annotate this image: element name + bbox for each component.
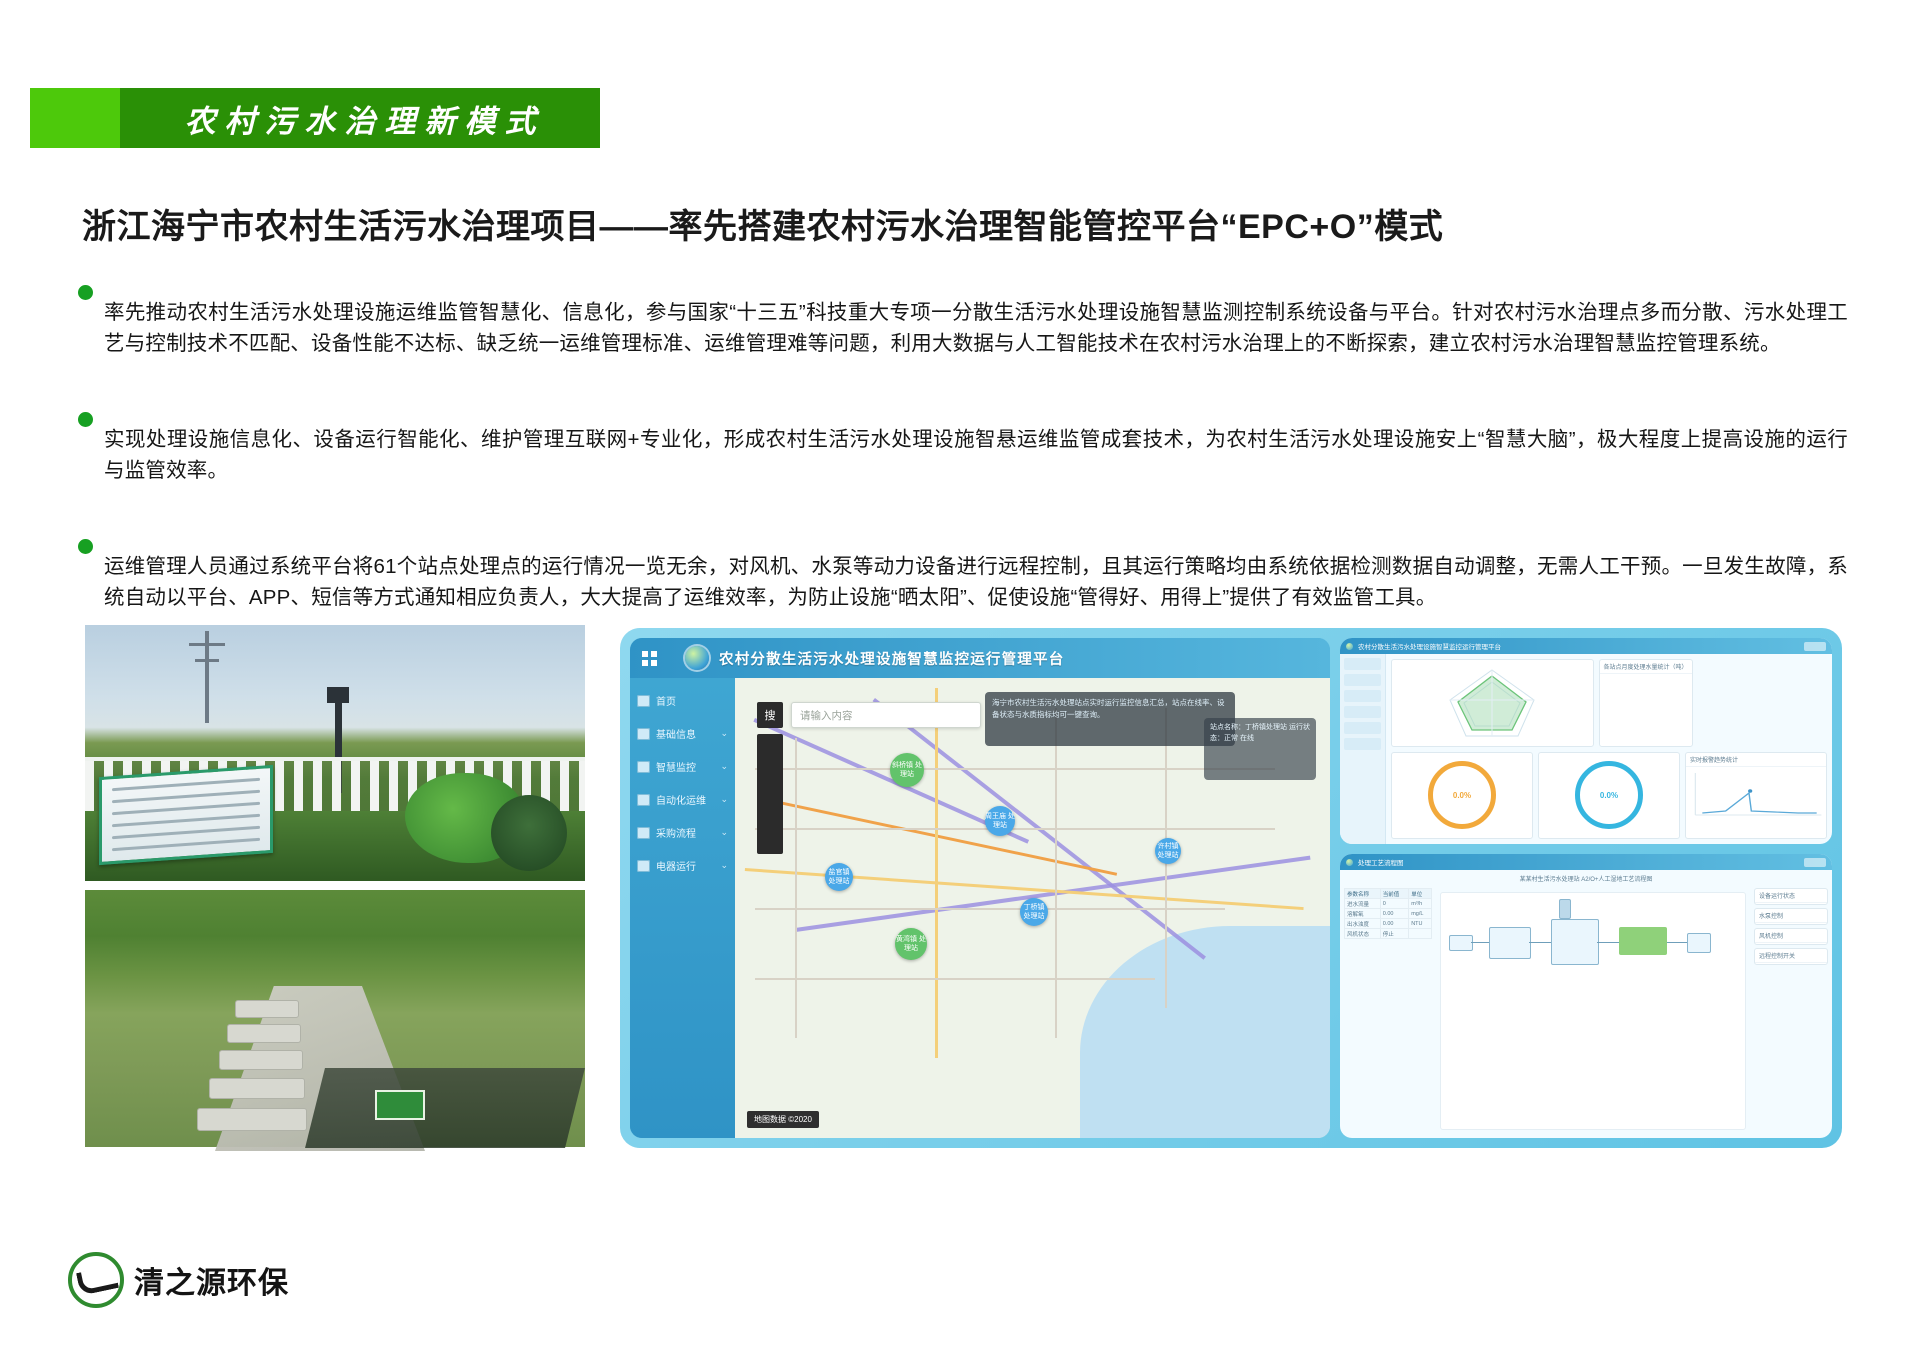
- bullet-list: 率先推动农村生活污水处理设施运维监管智慧化、信息化，参与国家“十三五”科技重大专…: [78, 276, 1848, 657]
- photo-village-fence: [85, 625, 585, 881]
- pylon-shape: [189, 643, 225, 646]
- chevron-down-icon: ⌄: [720, 794, 728, 805]
- map-poi-marker[interactable]: 盐官镇 处理站: [825, 863, 853, 891]
- monitor-icon: [637, 761, 650, 773]
- sidebar-item-label: 电器运行: [656, 858, 714, 873]
- analytics-sidebar[interactable]: [1340, 654, 1386, 844]
- page-title: 浙江海宁市农村生活污水治理项目——率先搭建农村污水治理智能管控平台“EPC+O”…: [82, 199, 1832, 248]
- flow-diagram-title: 某某村生活污水处理站 A2/O+人工湿地工艺流程图: [1344, 874, 1828, 883]
- step-shape: [197, 1108, 307, 1131]
- line-chart-icon: [1686, 767, 1826, 821]
- dashboard-screenshot: 农村分散生活污水处理设施智慧监控运行管理平台 首页 基础信息 ⌄ 智慧监控 ⌄: [620, 628, 1842, 1148]
- bullet-paragraph: 率先推动农村生活污水处理设施运维监管智慧化、信息化，参与国家“十三五”科技重大专…: [104, 297, 1848, 359]
- company-name: 清之源环保: [134, 1258, 289, 1302]
- gauge-value: 0.0%: [1428, 761, 1496, 829]
- window-controls-icon[interactable]: [1804, 858, 1826, 867]
- sidebar-item-procurement[interactable]: 采购流程 ⌄: [630, 816, 735, 849]
- control-card-label: 远程控制开关: [1755, 949, 1827, 963]
- field-sign: [375, 1090, 425, 1120]
- table-cell: mg/L: [1409, 909, 1432, 919]
- platform-window: 农村分散生活污水处理设施智慧监控运行管理平台 首页 基础信息 ⌄ 智慧监控 ⌄: [630, 638, 1330, 1138]
- pond-shape: [305, 1068, 585, 1148]
- table-cell: m³/h: [1409, 899, 1432, 909]
- map-site-popup: 站点名称：丁桥镇处理站 运行状态：正常 在线: [1204, 718, 1316, 780]
- road-shape: [795, 738, 797, 1038]
- bar-chart: [1600, 674, 1692, 689]
- process-panel-header: 处理工艺流程图: [1340, 854, 1832, 870]
- map-search-input[interactable]: 请输入内容: [791, 702, 981, 728]
- platform-header: 农村分散生活污水处理设施智慧监控运行管理平台: [630, 638, 1330, 678]
- window-controls-icon[interactable]: [1804, 642, 1826, 651]
- foliage-shape: [491, 795, 567, 871]
- step-shape: [219, 1050, 303, 1070]
- table-cell: 0.00: [1380, 909, 1408, 919]
- bullet-dot-icon: [78, 285, 93, 300]
- map-poi-marker[interactable]: 丁桥镇 处理站: [1020, 898, 1048, 926]
- flow-node-aeration: [1551, 919, 1599, 965]
- table-cell: 溶解氧: [1345, 909, 1381, 919]
- alarm-trend-title: 实时报警趋势统计: [1686, 753, 1826, 767]
- globe-logo-icon: [1346, 859, 1353, 866]
- table-cell: 0: [1380, 899, 1408, 909]
- bar-chart-title: 各站点月度处理水量统计（吨）: [1600, 660, 1692, 674]
- control-card-list: 设备运行状态 水泵控制 风机控制 远程控制开关: [1754, 888, 1828, 1134]
- flow-node-wetland: [1619, 927, 1667, 955]
- banner-title-block: 农村污水治理新模式: [120, 88, 600, 148]
- info-icon: [637, 728, 650, 740]
- road-shape: [755, 768, 1275, 770]
- bar-chart-card: 各站点月度处理水量统计（吨）: [1599, 659, 1693, 747]
- footer-logo: 清之源环保: [68, 1252, 289, 1308]
- ops-icon: [637, 794, 650, 806]
- flow-node-tank1: [1489, 927, 1531, 959]
- list-item: 率先推动农村生活污水处理设施运维监管智慧化、信息化，参与国家“十三五”科技重大专…: [78, 276, 1848, 379]
- platform-title: 农村分散生活污水处理设施智慧监控运行管理平台: [719, 648, 1064, 669]
- flow-pipe: [1529, 942, 1551, 943]
- photo-wetland-path: [85, 890, 585, 1147]
- sidebar-item-label: 基础信息: [656, 726, 714, 741]
- globe-logo-icon: [685, 646, 709, 670]
- table-row: 风机状态 停止: [1345, 929, 1432, 939]
- cart-icon: [637, 827, 650, 839]
- pylon-shape: [195, 659, 219, 662]
- flow-blower: [1559, 899, 1571, 919]
- alarm-trend-card: 实时报警趋势统计: [1685, 752, 1827, 840]
- control-card[interactable]: 风机控制: [1754, 928, 1828, 945]
- parameter-table-wrap: 参数名称 当前值 单位 进水流量 0 m³/h: [1344, 888, 1432, 1134]
- sidebar-item-auto-ops[interactable]: 自动化运维 ⌄: [630, 783, 735, 816]
- information-board: [99, 765, 273, 865]
- power-icon: [637, 860, 650, 872]
- control-card[interactable]: 远程控制开关: [1754, 948, 1828, 965]
- step-shape: [235, 1000, 299, 1018]
- table-row: 出水浊度 0.00 NTU: [1345, 919, 1432, 929]
- flow-pipe: [1597, 942, 1619, 943]
- sidebar-item-label: 首页: [656, 693, 722, 708]
- chevron-down-icon: ⌄: [720, 860, 728, 871]
- sidebar-item-label: 自动化运维: [656, 792, 714, 807]
- control-card[interactable]: 水泵控制: [1754, 908, 1828, 925]
- table-cell: 出水浊度: [1345, 919, 1381, 929]
- step-shape: [227, 1024, 301, 1043]
- control-card-label: 风机控制: [1755, 929, 1827, 943]
- map-poi-marker[interactable]: 黄湾镇 处理站: [895, 928, 927, 960]
- chevron-down-icon: ⌄: [720, 728, 728, 739]
- grid-menu-icon[interactable]: [642, 651, 657, 666]
- parameter-table: 参数名称 当前值 单位 进水流量 0 m³/h: [1344, 888, 1432, 939]
- gauge-online-rate: 0.0%: [1391, 752, 1533, 840]
- sidebar-item-label: 智慧监控: [656, 759, 714, 774]
- process-panel-title: 处理工艺流程图: [1358, 857, 1404, 867]
- radar-chart-card: [1391, 659, 1594, 747]
- bullet-paragraph: 运维管理人员通过系统平台将61个站点处理点的运行情况一览无余，对风机、水泵等动力…: [104, 551, 1848, 613]
- list-item: 实现处理设施信息化、设备运行智能化、维护管理互联网+专业化，形成农村生活污水处理…: [78, 403, 1848, 506]
- table-header-cell: 当前值: [1380, 889, 1408, 899]
- map-info-popup: 海宁市农村生活污水处理站点实时运行监控信息汇总，站点在线率、设备状态与水质指标均…: [985, 692, 1235, 746]
- analytics-panel: 农村分散生活污水处理设施智慧监控运行管理平台: [1340, 638, 1832, 844]
- map-canvas[interactable]: 搜 请输入内容 海宁市农村生活污水处理站点实时运行监控信息汇总，站点在线率、设备…: [735, 678, 1330, 1138]
- home-icon: [637, 695, 650, 707]
- bullet-paragraph: 实现处理设施信息化、设备运行智能化、维护管理互联网+专业化，形成农村生活污水处理…: [104, 424, 1848, 486]
- process-flow-diagram: [1440, 892, 1746, 1130]
- road-shape: [935, 688, 938, 1058]
- list-item: 运维管理人员通过系统平台将61个站点处理点的运行情况一览无余，对风机、水泵等动力…: [78, 530, 1848, 633]
- dashboard-right-column: 农村分散生活污水处理设施智慧监控运行管理平台: [1340, 638, 1832, 1138]
- water-body-shape: [1080, 926, 1330, 1138]
- control-card-label: 水泵控制: [1755, 909, 1827, 923]
- control-card[interactable]: 设备运行状态: [1754, 888, 1828, 905]
- section-banner: 农村污水治理新模式: [30, 88, 600, 148]
- flow-node-outlet: [1687, 933, 1711, 953]
- sidebar-item-smart-monitor[interactable]: 智慧监控 ⌄: [630, 750, 735, 783]
- process-panel: 处理工艺流程图 某某村生活污水处理站 A2/O+人工湿地工艺流程图 参数名称 当…: [1340, 854, 1832, 1138]
- analytics-panel-header: 农村分散生活污水处理设施智慧监控运行管理平台: [1340, 638, 1832, 654]
- company-logo-icon: [68, 1252, 124, 1308]
- map-poi-marker[interactable]: 许村镇 处理站: [1155, 838, 1181, 864]
- sidebar-item-power-run[interactable]: 电器运行 ⌄: [630, 849, 735, 882]
- table-row: 进水流量 0 m³/h: [1345, 899, 1432, 909]
- banner-accent-block: [30, 88, 120, 148]
- table-header-cell: 单位: [1409, 889, 1432, 899]
- road-shape: [1055, 708, 1057, 1038]
- analytics-panel-title: 农村分散生活污水处理设施智慧监控运行管理平台: [1358, 641, 1501, 651]
- table-cell: 0.00: [1380, 919, 1408, 929]
- radar-chart-icon: [1444, 664, 1540, 742]
- road-shape: [755, 828, 1275, 830]
- map-zoom-slider[interactable]: [757, 734, 783, 854]
- platform-sidebar: 首页 基础信息 ⌄ 智慧监控 ⌄ 自动化运维 ⌄: [630, 678, 735, 1138]
- map-attribution: 地图数据 ©2020: [747, 1111, 819, 1128]
- table-cell: NTU: [1409, 919, 1432, 929]
- table-cell: [1409, 929, 1432, 939]
- road-shape: [795, 856, 1310, 932]
- table-row: 溶解氧 0.00 mg/L: [1345, 909, 1432, 919]
- table-cell: 风机状态: [1345, 929, 1381, 939]
- table-cell: 进水流量: [1345, 899, 1381, 909]
- road-shape: [755, 978, 1155, 980]
- bullet-dot-icon: [78, 412, 93, 427]
- chevron-down-icon: ⌄: [720, 761, 728, 772]
- flow-node-inlet: [1449, 935, 1473, 951]
- map-search-button[interactable]: 搜: [757, 702, 783, 728]
- control-card-label: 设备运行状态: [1755, 889, 1827, 903]
- road-shape: [755, 908, 1225, 910]
- sidebar-item-home[interactable]: 首页: [630, 684, 735, 717]
- flow-pipe: [1667, 942, 1687, 943]
- sidebar-item-label: 采购流程: [656, 825, 714, 840]
- gauge-value: 0.0%: [1575, 761, 1643, 829]
- banner-title: 农村污水治理新模式: [176, 96, 545, 141]
- chevron-down-icon: ⌄: [720, 827, 728, 838]
- flow-pipe: [1471, 942, 1489, 943]
- table-header-row: 参数名称 当前值 单位: [1345, 889, 1432, 899]
- bullet-dot-icon: [78, 539, 93, 554]
- map-poi-marker[interactable]: 斜桥镇 处理站: [890, 753, 924, 787]
- camera-shape: [327, 687, 349, 703]
- table-cell: 停止: [1380, 929, 1408, 939]
- step-shape: [209, 1078, 305, 1099]
- globe-logo-icon: [1346, 643, 1353, 650]
- sidebar-item-basic-info[interactable]: 基础信息 ⌄: [630, 717, 735, 750]
- road-shape: [764, 798, 1117, 876]
- gauge-fault-rate: 0.0%: [1538, 752, 1680, 840]
- table-header-cell: 参数名称: [1345, 889, 1381, 899]
- map-poi-marker[interactable]: 周王庙 处理站: [985, 806, 1015, 836]
